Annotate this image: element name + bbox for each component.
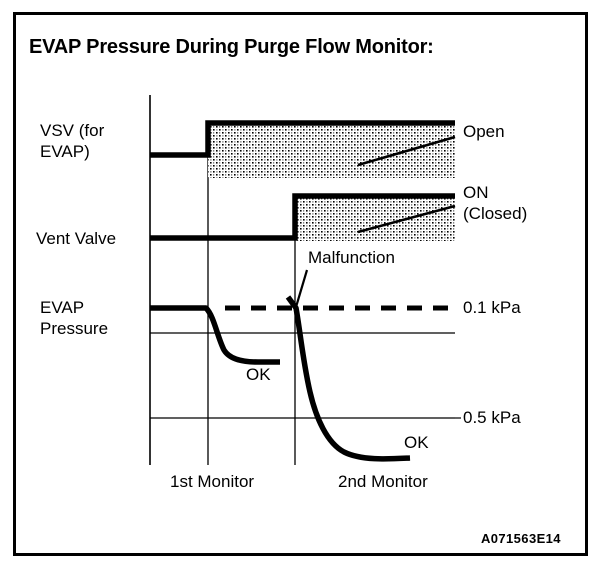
x-axis-label-first-monitor: 1st Monitor [170,471,254,492]
evap-pressure-chart [0,0,608,576]
annotation-ok-second-monitor: OK [404,432,429,453]
threshold-label-0-1-kpa: 0.1 kPa [463,297,521,318]
evap-curve-second-monitor [288,297,410,459]
axis-label-vent-valve: Vent Valve [36,228,116,249]
state-label-on: ON [463,183,489,202]
evap-curve-first-monitor [150,308,280,362]
diagram-page: EVAP Pressure During Purge Flow Monitor: [0,0,608,576]
annotation-malfunction: Malfunction [308,247,395,268]
axis-label-vsv-line2: EVAP) [40,142,90,161]
state-label-on-closed: ON (Closed) [463,182,527,224]
threshold-label-0-5-kpa: 0.5 kPa [463,407,521,428]
vsv-open-region [208,123,455,178]
x-axis-label-second-monitor: 2nd Monitor [338,471,428,492]
axis-label-vsv-line1: VSV (for [40,121,104,140]
vent-valve-on-region [295,196,455,241]
axis-label-evap-line2: Pressure [40,319,108,338]
axis-label-evap-line1: EVAP [40,298,84,317]
axis-label-vsv: VSV (for EVAP) [40,120,104,162]
figure-code: A071563E14 [481,531,561,546]
state-label-open: Open [463,121,505,142]
state-label-closed: (Closed) [463,204,527,223]
axis-label-evap-pressure: EVAP Pressure [40,297,108,339]
annotation-ok-first-monitor: OK [246,364,271,385]
malfunction-leader-line [296,270,307,307]
